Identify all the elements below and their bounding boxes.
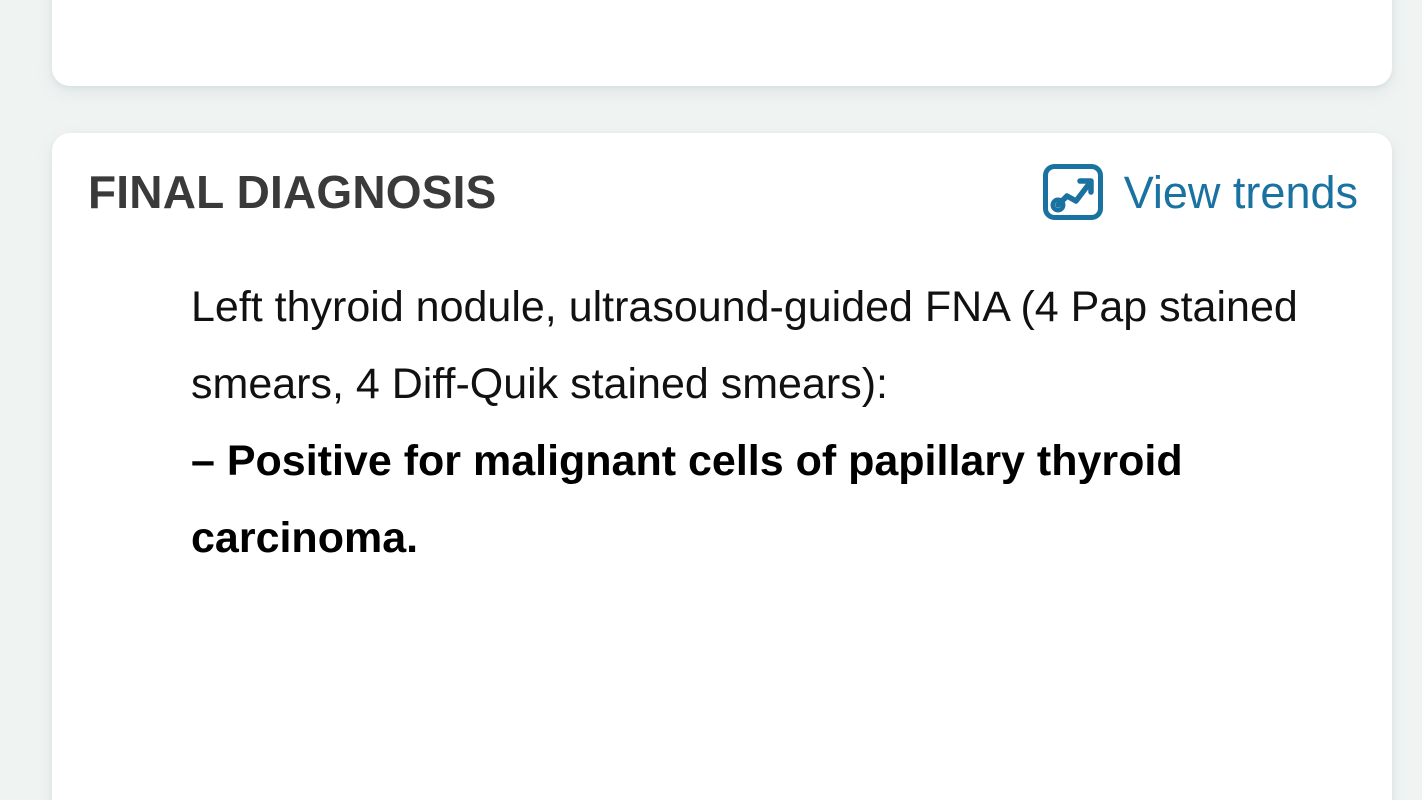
card-body: Left thyroid nodule, ultrasound-guided F…: [52, 251, 1392, 617]
page-title: FINAL DIAGNOSIS: [88, 169, 497, 215]
final-diagnosis-card: FINAL DIAGNOSIS View trends Left thyroid…: [52, 133, 1392, 800]
view-trends-button[interactable]: View trends: [1038, 159, 1362, 225]
trending-chart-icon: [1042, 163, 1104, 221]
specimen-description: Left thyroid nodule, ultrasound-guided F…: [191, 269, 1311, 423]
diagnosis-result: – Positive for malignant cells of papill…: [191, 423, 1311, 577]
previous-report-card: [52, 0, 1392, 86]
card-header: FINAL DIAGNOSIS View trends: [52, 133, 1392, 251]
diagnosis-text: Left thyroid nodule, ultrasound-guided F…: [191, 269, 1311, 577]
view-trends-label: View trends: [1124, 170, 1358, 215]
report-screen: FINAL DIAGNOSIS View trends Left thyroid…: [0, 0, 1422, 800]
